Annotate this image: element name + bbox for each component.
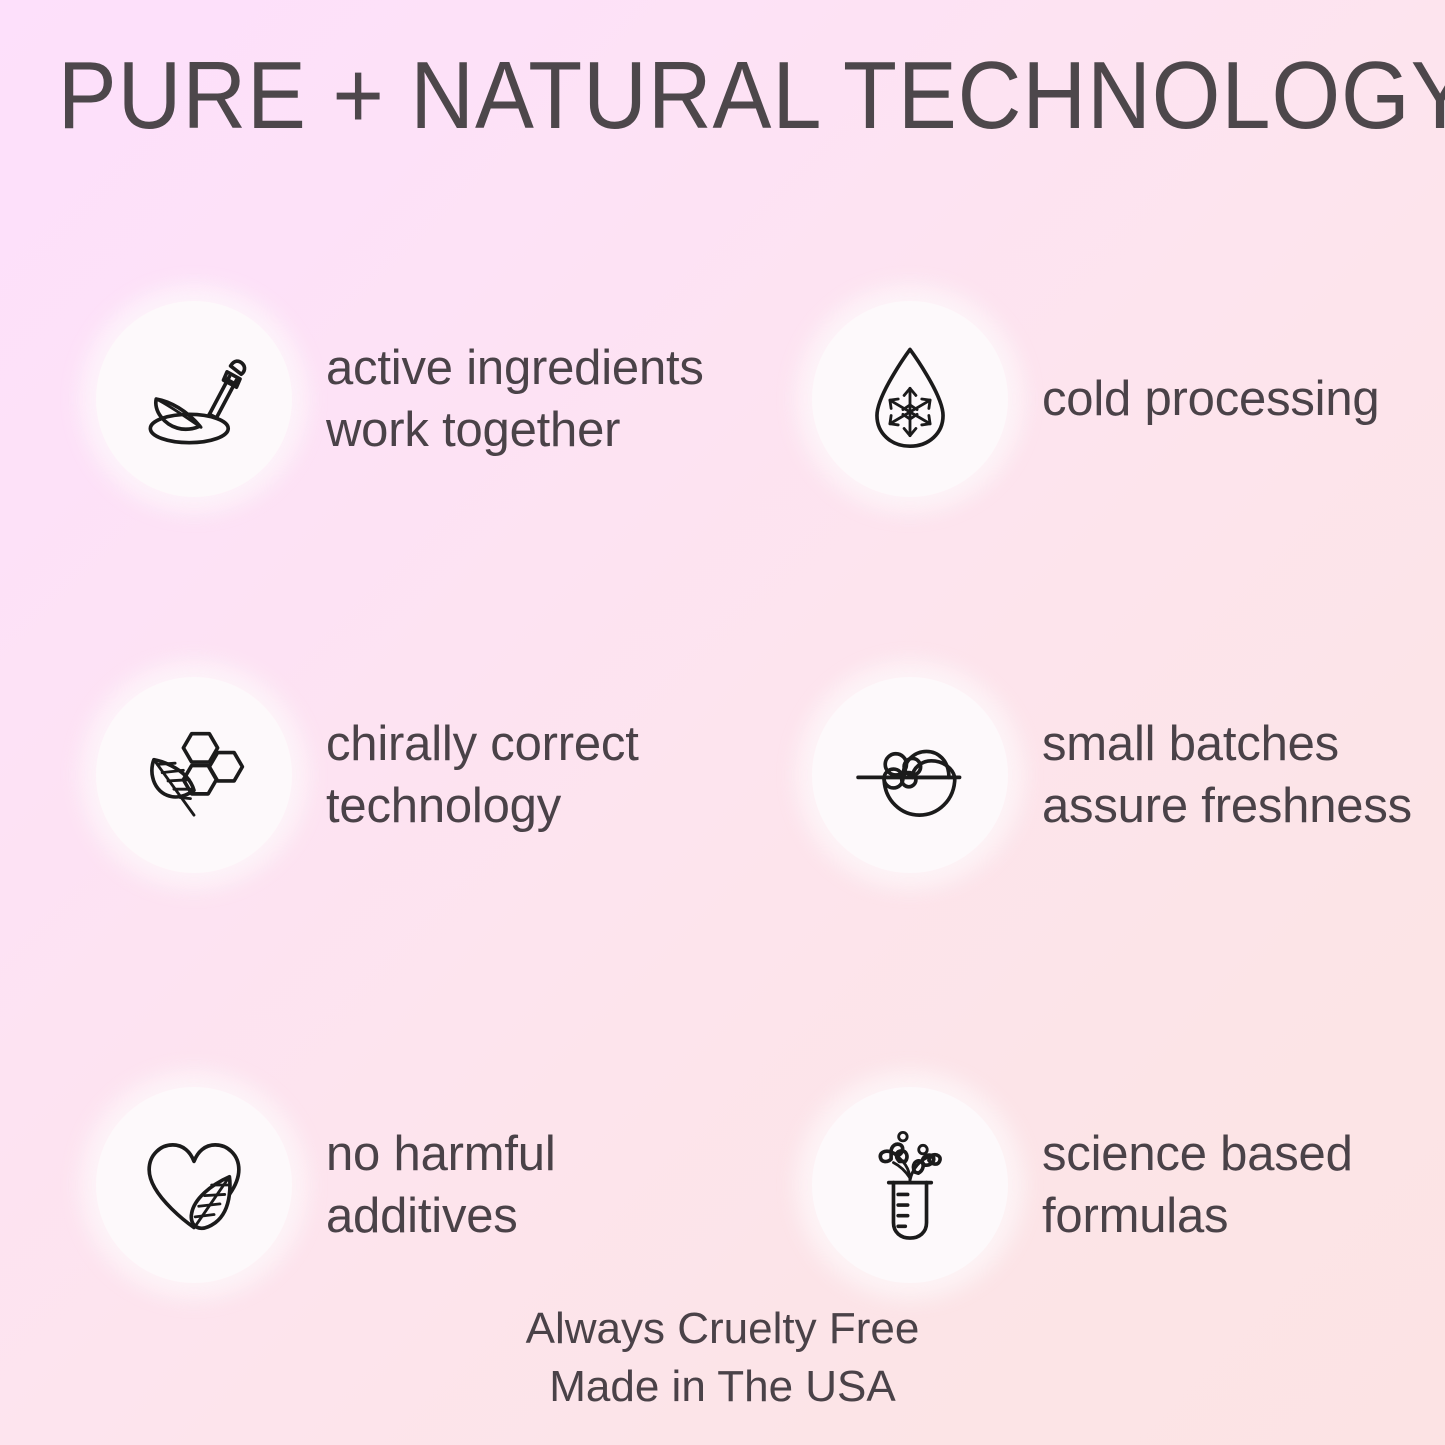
icon-disc (96, 1087, 292, 1283)
feature-label: cold processing (1042, 368, 1379, 430)
feature-item-active-ingredients: active ingredients work together (96, 284, 736, 514)
feature-label: small batches assure freshness (1042, 713, 1412, 837)
feature-item-chirally-correct: chirally correct technology (96, 660, 736, 890)
icon-disc (96, 301, 292, 497)
page-title: PURE + NATURAL TECHNOLOGY (58, 46, 1387, 147)
feature-label: active ingredients work together (326, 337, 704, 461)
icon-disc (96, 677, 292, 873)
icon-disc (812, 1087, 1008, 1283)
test-tube-plant-icon (851, 1126, 969, 1244)
feature-label: chirally correct technology (326, 713, 639, 837)
feature-grid: active ingredients work together (0, 280, 1445, 1300)
feature-item-no-harmful-additives: no harmful additives (96, 1070, 736, 1300)
footer-line-cruelty-free: Always Cruelty Free (0, 1300, 1445, 1359)
footer-line-made-in-usa: Made in The USA (0, 1358, 1445, 1417)
feature-label: no harmful additives (326, 1123, 556, 1247)
droplet-snowflake-icon (851, 340, 969, 458)
bowl-berries-icon (851, 716, 969, 834)
icon-disc (812, 301, 1008, 497)
feature-item-cold-processing: cold processing (812, 284, 1432, 514)
footer-text: Always Cruelty Free Made in The USA (0, 1300, 1445, 1417)
feature-item-science-based: science based formulas (812, 1070, 1432, 1300)
dropper-leaf-icon (135, 340, 253, 458)
poster-canvas: PURE + NATURAL TECHNOLOGY active ingred (0, 0, 1445, 1445)
leaf-hexagons-icon (135, 716, 253, 834)
feature-item-small-batches: small batches assure freshness (812, 660, 1432, 890)
feature-label: science based formulas (1042, 1123, 1353, 1247)
heart-leaf-icon (135, 1126, 253, 1244)
icon-disc (812, 677, 1008, 873)
